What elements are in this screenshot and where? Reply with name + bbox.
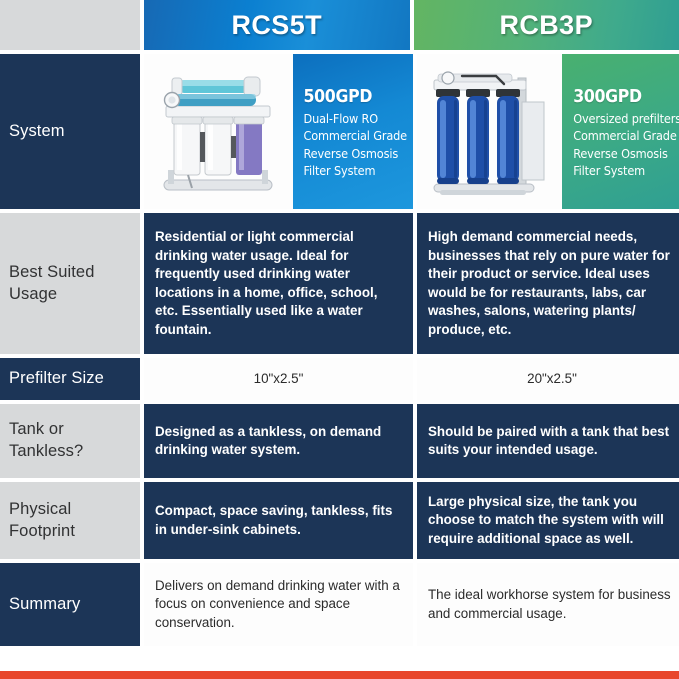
table-row-best-suited-usage: Best Suited Usage Residential or light c…: [0, 213, 679, 354]
rcb3p-spec-panel: 300GPD Oversized prefilters Commercial G…: [562, 54, 679, 209]
header-product-rcs5t: RCS5T: [144, 0, 410, 50]
cell-tank-or-tankless-rcb3p: Should be paired with a tank that best s…: [417, 404, 679, 478]
bottom-accent-bar: [0, 671, 679, 679]
cell-best-suited-usage-rcs5t: Residential or light commercial drinking…: [144, 213, 413, 354]
row-label-summary: Summary: [0, 563, 140, 646]
rcs5t-spec-line-2: Commercial Grade: [304, 127, 408, 144]
row-label-prefilter-size: Prefilter Size: [0, 358, 140, 400]
header-product-rcb3p: RCB3P: [414, 0, 679, 50]
row-label-tank-or-tankless: Tank or Tankless?: [0, 404, 140, 478]
table-row-summary: Summary Delivers on demand drinking wate…: [0, 563, 679, 646]
rcs5t-gpd-value: 500GPD: [304, 87, 408, 107]
rcs5t-spec-line-3: Reverse Osmosis: [304, 145, 408, 162]
row-label-physical-footprint: Physical Footprint: [0, 482, 140, 559]
rcb3p-spec-line-1: Oversized prefilters: [573, 110, 679, 127]
table-row-prefilter-size: Prefilter Size 10"x2.5" 20"x2.5": [0, 358, 679, 400]
rcb3p-spec-line-3: Reverse Osmosis: [573, 145, 679, 162]
rcs5t-spec-line-4: Filter System: [304, 162, 408, 179]
row-label-best-suited-usage: Best Suited Usage: [0, 213, 140, 354]
cell-physical-footprint-rcs5t: Compact, space saving, tankless, fits in…: [144, 482, 413, 559]
system-cell-rcb3p: 300GPD Oversized prefilters Commercial G…: [417, 54, 679, 209]
header-spacer-cell: [0, 0, 140, 50]
table-row-tank-or-tankless: Tank or Tankless? Designed as a tankless…: [0, 404, 679, 478]
ro-system-3stage-bigblue-illustration: [422, 62, 558, 202]
cell-best-suited-usage-rcb3p: High demand commercial needs, businesses…: [417, 213, 679, 354]
cell-tank-or-tankless-rcs5t: Designed as a tankless, on demand drinki…: [144, 404, 413, 478]
cell-summary-rcs5t: Delivers on demand drinking water with a…: [144, 563, 413, 646]
cell-prefilter-size-rcb3p: 20"x2.5": [417, 358, 679, 400]
table-row-physical-footprint: Physical Footprint Compact, space saving…: [0, 482, 679, 559]
product-comparison-table: RCS5T RCB3P System: [0, 0, 679, 679]
rcs5t-spec-line-1: Dual-Flow RO: [304, 110, 408, 127]
rcb3p-spec-line-4: Filter System: [573, 162, 679, 179]
rcb3p-system-image: [417, 54, 562, 209]
ro-system-5stage-illustration: [148, 62, 288, 202]
table-row-system: System: [0, 54, 679, 209]
cell-summary-rcb3p: The ideal workhorse system for business …: [417, 563, 679, 646]
rcs5t-system-image: [144, 54, 293, 209]
row-label-system: System: [0, 54, 140, 209]
rcs5t-spec-panel: 500GPD Dual-Flow RO Commercial Grade Rev…: [293, 54, 414, 209]
rcb3p-spec-line-2: Commercial Grade: [573, 127, 679, 144]
cell-physical-footprint-rcb3p: Large physical size, the tank you choose…: [417, 482, 679, 559]
rcb3p-gpd-value: 300GPD: [573, 87, 679, 107]
system-cell-rcs5t: 500GPD Dual-Flow RO Commercial Grade Rev…: [144, 54, 413, 209]
table-header-row: RCS5T RCB3P: [0, 0, 679, 50]
cell-prefilter-size-rcs5t: 10"x2.5": [144, 358, 413, 400]
